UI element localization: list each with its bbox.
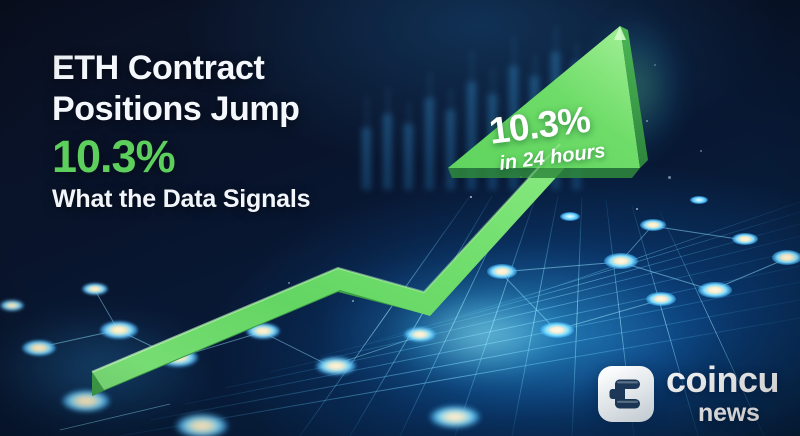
coincu-logo-mark [598,366,654,422]
logo-glyph [598,366,654,422]
headline-percent: 10.3% [52,132,452,182]
headline-line-1: ETH Contract [52,48,452,89]
news-banner: ETH Contract Positions Jump 10.3% What t… [0,0,800,436]
headline-subtitle: What the Data Signals [52,184,452,214]
brand-logo: coincu news [598,362,779,426]
headline-line-2: Positions Jump [52,89,452,130]
logo-sub-brand: news [698,401,760,426]
logo-wordmark: coincu news [666,362,779,426]
headline-block: ETH Contract Positions Jump 10.3% What t… [52,48,452,214]
logo-brand: coincu [666,362,779,398]
